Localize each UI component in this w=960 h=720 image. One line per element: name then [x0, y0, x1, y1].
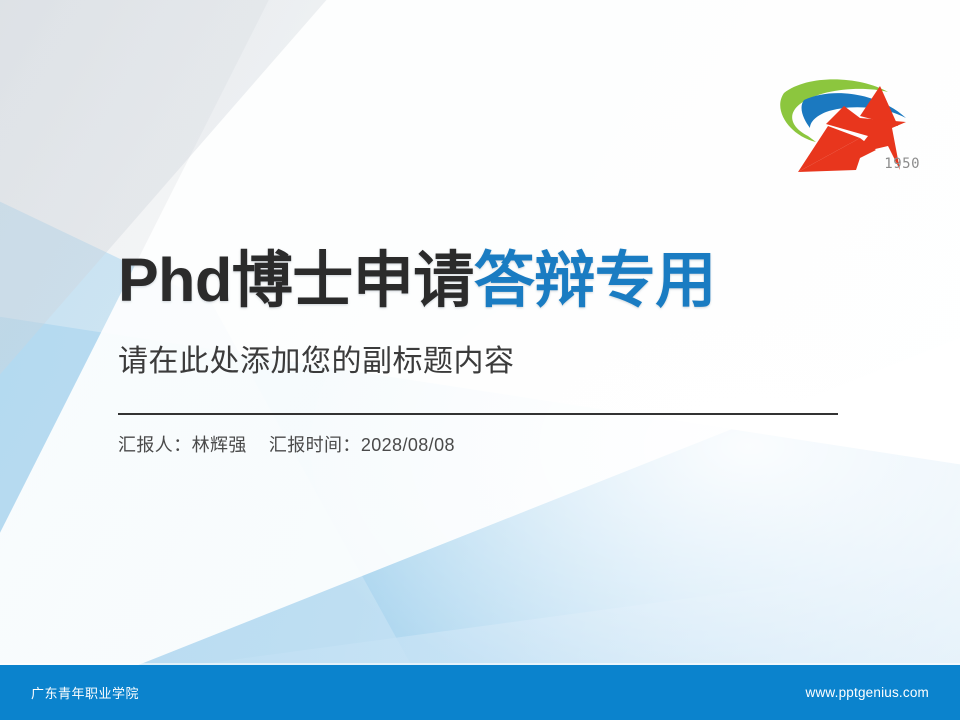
page-subtitle: 请在此处添加您的副标题内容	[118, 336, 878, 380]
footer-institution: 广东青年职业学院	[31, 683, 139, 702]
divider-rule	[118, 413, 838, 415]
presenter-name: 林辉强	[192, 435, 247, 455]
date-label: 汇报时间：	[269, 435, 361, 455]
byline: 汇报人：林辉强汇报时间：2028/08/08	[118, 431, 878, 457]
logo-year-text: 1950	[884, 156, 920, 172]
presenter-label: 汇报人：	[118, 435, 192, 455]
footer-bar: 广东青年职业学院 www.pptgenius.com	[0, 665, 960, 720]
title-content-block: Phd博士申请答辩专用 请在此处添加您的副标题内容 汇报人：林辉强汇报时间：20…	[118, 248, 878, 457]
title-slide: 1950 Phd博士申请答辩专用 请在此处添加您的副标题内容 汇报人：林辉强汇报…	[0, 0, 960, 720]
date-value: 2028/08/08	[361, 435, 455, 455]
footer-website[interactable]: www.pptgenius.com	[806, 685, 929, 700]
page-title-dark: Phd博士申请	[118, 246, 474, 314]
school-star-logo: 1950	[764, 66, 934, 186]
page-title-accent: 答辩专用	[474, 246, 716, 314]
page-title: Phd博士申请答辩专用	[118, 248, 878, 314]
